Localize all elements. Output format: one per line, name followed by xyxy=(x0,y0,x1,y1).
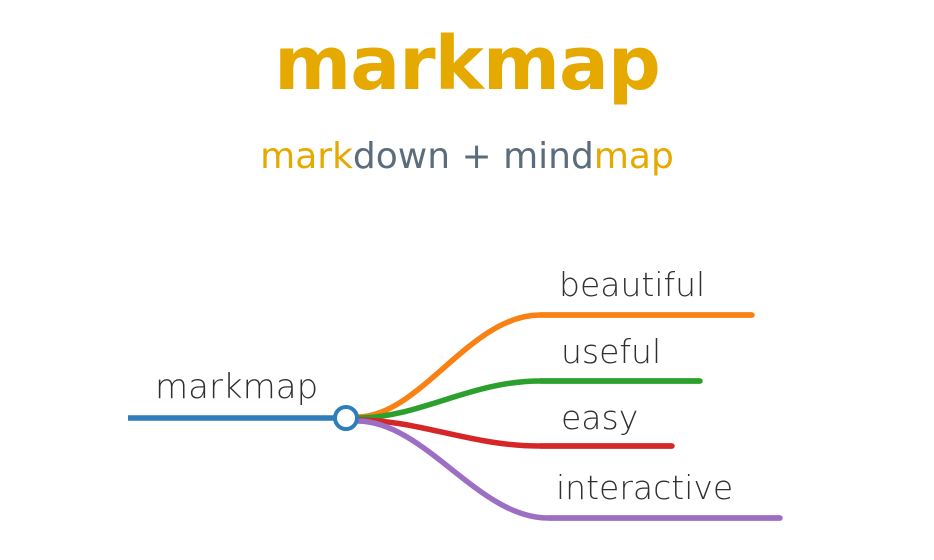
link-beautiful xyxy=(357,315,752,417)
mindmap-diagram: markmap beautiful useful easy interactiv… xyxy=(0,0,934,560)
node-label-easy[interactable]: easy xyxy=(561,399,638,437)
canvas: markmap markdown + mindmap markmap beaut… xyxy=(0,0,934,560)
node-label-useful[interactable]: useful xyxy=(561,333,661,371)
node-label-beautiful[interactable]: beautiful xyxy=(559,266,705,304)
node-label-interactive[interactable]: interactive xyxy=(556,469,733,507)
mindmap-svg xyxy=(0,0,934,560)
node-label-markmap[interactable]: markmap xyxy=(155,368,318,406)
root-node-circle[interactable] xyxy=(335,407,357,429)
